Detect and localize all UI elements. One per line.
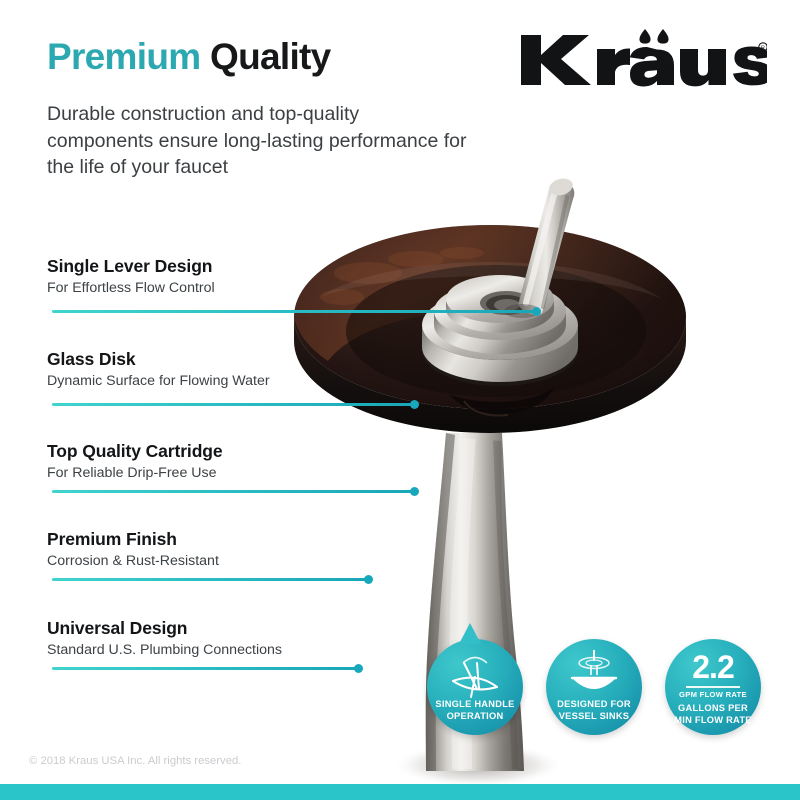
connector-dot-5 [354, 664, 363, 673]
badge-flow-rate: 2.2 GPM FLOW RATE GALLONS PER MIN FLOW R… [665, 639, 761, 735]
badge-caption-line2: OPERATION [427, 711, 523, 723]
feature-title: Premium Finish [47, 528, 219, 550]
feature-subtitle: Dynamic Surface for Flowing Water [47, 372, 270, 391]
flow-rate-unit: GPM FLOW RATE [665, 690, 761, 699]
copyright-notice: © 2018 Kraus USA Inc. All rights reserve… [29, 755, 241, 767]
feature-single-lever-design: Single Lever Design For Effortless Flow … [47, 255, 215, 298]
vessel-sink-icon [546, 650, 642, 700]
page-title-dark: Quality [210, 36, 331, 77]
badge-designed-for-vessel-sinks: DESIGNED FOR VESSEL SINKS [546, 639, 642, 735]
badge-single-handle-operation: SINGLE HANDLE OPERATION [427, 639, 523, 735]
svg-text:R: R [761, 46, 765, 52]
badge-caption-line2: MIN FLOW RATE [665, 715, 761, 727]
single-handle-icon [427, 653, 523, 699]
connector-line-5 [52, 667, 362, 670]
feature-title: Glass Disk [47, 348, 270, 370]
feature-top-quality-cartridge: Top Quality Cartridge For Reliable Drip-… [47, 440, 223, 483]
badge-caption-line1: DESIGNED FOR [546, 699, 642, 711]
page-title: Premium Quality [47, 38, 331, 75]
badge-caption: GALLONS PER MIN FLOW RATE [665, 703, 761, 726]
connector-line-1 [52, 310, 540, 313]
feature-universal-design: Universal Design Standard U.S. Plumbing … [47, 617, 282, 660]
connector-dot-1 [532, 307, 541, 316]
feature-title: Universal Design [47, 617, 282, 639]
kraus-logo-svg: R [517, 27, 767, 89]
connector-line-3 [52, 490, 418, 493]
badge-caption-line1: SINGLE HANDLE [427, 699, 523, 711]
connector-line-2 [52, 403, 418, 406]
badge-caption: SINGLE HANDLE OPERATION [427, 699, 523, 722]
feature-title: Top Quality Cartridge [47, 440, 223, 462]
feature-subtitle: Corrosion & Rust-Resistant [47, 552, 219, 571]
feature-glass-disk: Glass Disk Dynamic Surface for Flowing W… [47, 348, 270, 391]
infographic-canvas: Premium Quality Durable construction and… [0, 0, 800, 800]
feature-subtitle: For Effortless Flow Control [47, 279, 215, 298]
feature-subtitle: For Reliable Drip-Free Use [47, 464, 223, 483]
badge-caption-line2: VESSEL SINKS [546, 711, 642, 723]
connector-line-4 [52, 578, 372, 581]
page-title-accent: Premium [47, 36, 200, 77]
bottom-accent-bar [0, 784, 800, 800]
badge-caption-line1: GALLONS PER [665, 703, 761, 715]
feature-premium-finish: Premium Finish Corrosion & Rust-Resistan… [47, 528, 219, 571]
feature-subtitle: Standard U.S. Plumbing Connections [47, 641, 282, 660]
kraus-logo: R [517, 27, 767, 89]
feature-title: Single Lever Design [47, 255, 215, 277]
connector-dot-3 [410, 487, 419, 496]
badge-caption: DESIGNED FOR VESSEL SINKS [546, 699, 642, 722]
flow-rate-value: 2.2 [665, 651, 761, 683]
flow-rate-divider [686, 686, 740, 688]
badge-pointer-tail [457, 623, 483, 645]
connector-dot-4 [364, 575, 373, 584]
connector-dot-2 [410, 400, 419, 409]
